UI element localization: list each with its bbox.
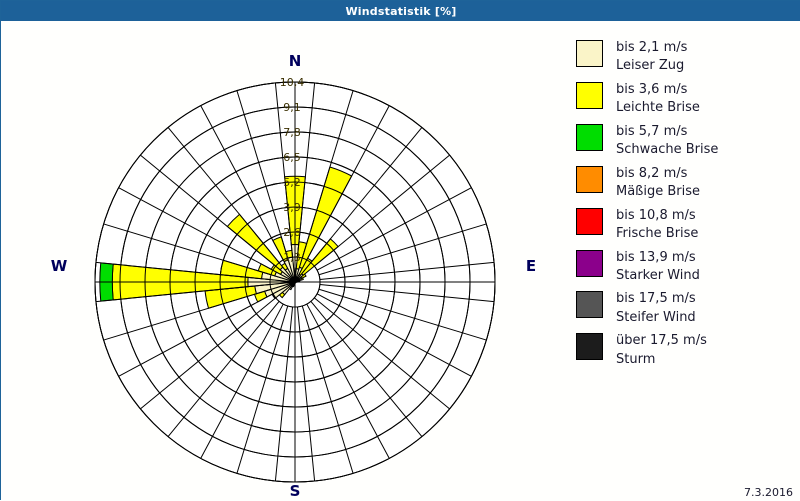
legend-name-label: Mäßige Brise (616, 183, 700, 201)
legend-label-group: bis 17,5 m/sSteifer Wind (616, 290, 696, 327)
wind-rose-chart: 1,32,63,95,26,57,89,110,4 N E S W (1, 21, 561, 501)
legend-label-group: bis 13,9 m/sStarker Wind (616, 249, 700, 286)
legend-speed-label: über 17,5 m/s (616, 332, 707, 350)
legend-swatch (576, 208, 603, 235)
legend-label-group: bis 2,1 m/sLeiser Zug (616, 39, 687, 76)
date-stamp: 7.3.2016 (744, 486, 793, 499)
legend-name-label: Sturm (616, 351, 707, 369)
legend-item[interactable]: bis 17,5 m/sSteifer Wind (576, 290, 791, 327)
legend-swatch (576, 250, 603, 277)
legend-name-label: Schwache Brise (616, 141, 718, 159)
legend-item[interactable]: bis 8,2 m/sMäßige Brise (576, 165, 791, 202)
legend-item[interactable]: über 17,5 m/sSturm (576, 332, 791, 369)
legend-swatch (576, 333, 603, 360)
window-content: 1,32,63,95,26,57,89,110,4 N E S W bis 2,… (1, 21, 800, 501)
legend-speed-label: bis 10,8 m/s (616, 207, 698, 225)
legend-name-label: Starker Wind (616, 267, 700, 285)
radial-tick-label: 3,9 (283, 201, 301, 214)
legend-item[interactable]: bis 3,6 m/sLeichte Brise (576, 81, 791, 118)
legend-name-label: Frische Brise (616, 225, 698, 243)
legend-label-group: bis 3,6 m/sLeichte Brise (616, 81, 700, 118)
window-title-bar: Windstatistik [%] (1, 1, 800, 21)
wind-rose-sector (301, 278, 303, 280)
legend-item[interactable]: bis 2,1 m/sLeiser Zug (576, 39, 791, 76)
legend-item[interactable]: bis 10,8 m/sFrische Brise (576, 207, 791, 244)
legend-swatch (576, 82, 603, 109)
legend-speed-label: bis 2,1 m/s (616, 39, 687, 57)
radial-tick-label: 2,6 (283, 226, 301, 239)
legend-label-group: bis 8,2 m/sMäßige Brise (616, 165, 700, 202)
legend-label-group: bis 10,8 m/sFrische Brise (616, 207, 698, 244)
legend-swatch (576, 124, 603, 151)
legend-item[interactable]: bis 5,7 m/sSchwache Brise (576, 123, 791, 160)
radial-tick-label: 7,8 (283, 126, 301, 139)
radial-tick-label: 6,5 (283, 151, 301, 164)
legend-name-label: Leichte Brise (616, 99, 700, 117)
radial-tick-label: 10,4 (280, 76, 305, 89)
legend-name-label: Steifer Wind (616, 309, 696, 327)
window-title: Windstatistik [%] (345, 5, 456, 18)
radial-tick-label: 5,2 (283, 176, 301, 189)
legend-label-group: bis 5,7 m/sSchwache Brise (616, 123, 718, 160)
legend-name-label: Leiser Zug (616, 57, 687, 75)
legend-speed-label: bis 13,9 m/s (616, 249, 700, 267)
compass-label-west: W (51, 257, 68, 275)
radial-tick-label: 1,3 (283, 251, 301, 264)
legend-item[interactable]: bis 13,9 m/sStarker Wind (576, 249, 791, 286)
windstatistik-window: Windstatistik [%] 1,32,63,95,26,57,89,11… (0, 0, 800, 500)
legend-speed-label: bis 8,2 m/s (616, 165, 700, 183)
legend-swatch (576, 291, 603, 318)
compass-label-east: E (526, 257, 536, 275)
legend-swatch (576, 40, 603, 67)
legend-swatch (576, 166, 603, 193)
legend-speed-label: bis 5,7 m/s (616, 123, 718, 141)
compass-label-north: N (289, 52, 302, 70)
legend-speed-label: bis 17,5 m/s (616, 290, 696, 308)
legend-speed-label: bis 3,6 m/s (616, 81, 700, 99)
legend-label-group: über 17,5 m/sSturm (616, 332, 707, 369)
radial-tick-label: 9,1 (283, 101, 301, 114)
wind-rose-svg: 1,32,63,95,26,57,89,110,4 N E S W (1, 21, 561, 501)
compass-label-south: S (290, 482, 301, 500)
legend: bis 2,1 m/sLeiser Zugbis 3,6 m/sLeichte … (576, 39, 791, 374)
